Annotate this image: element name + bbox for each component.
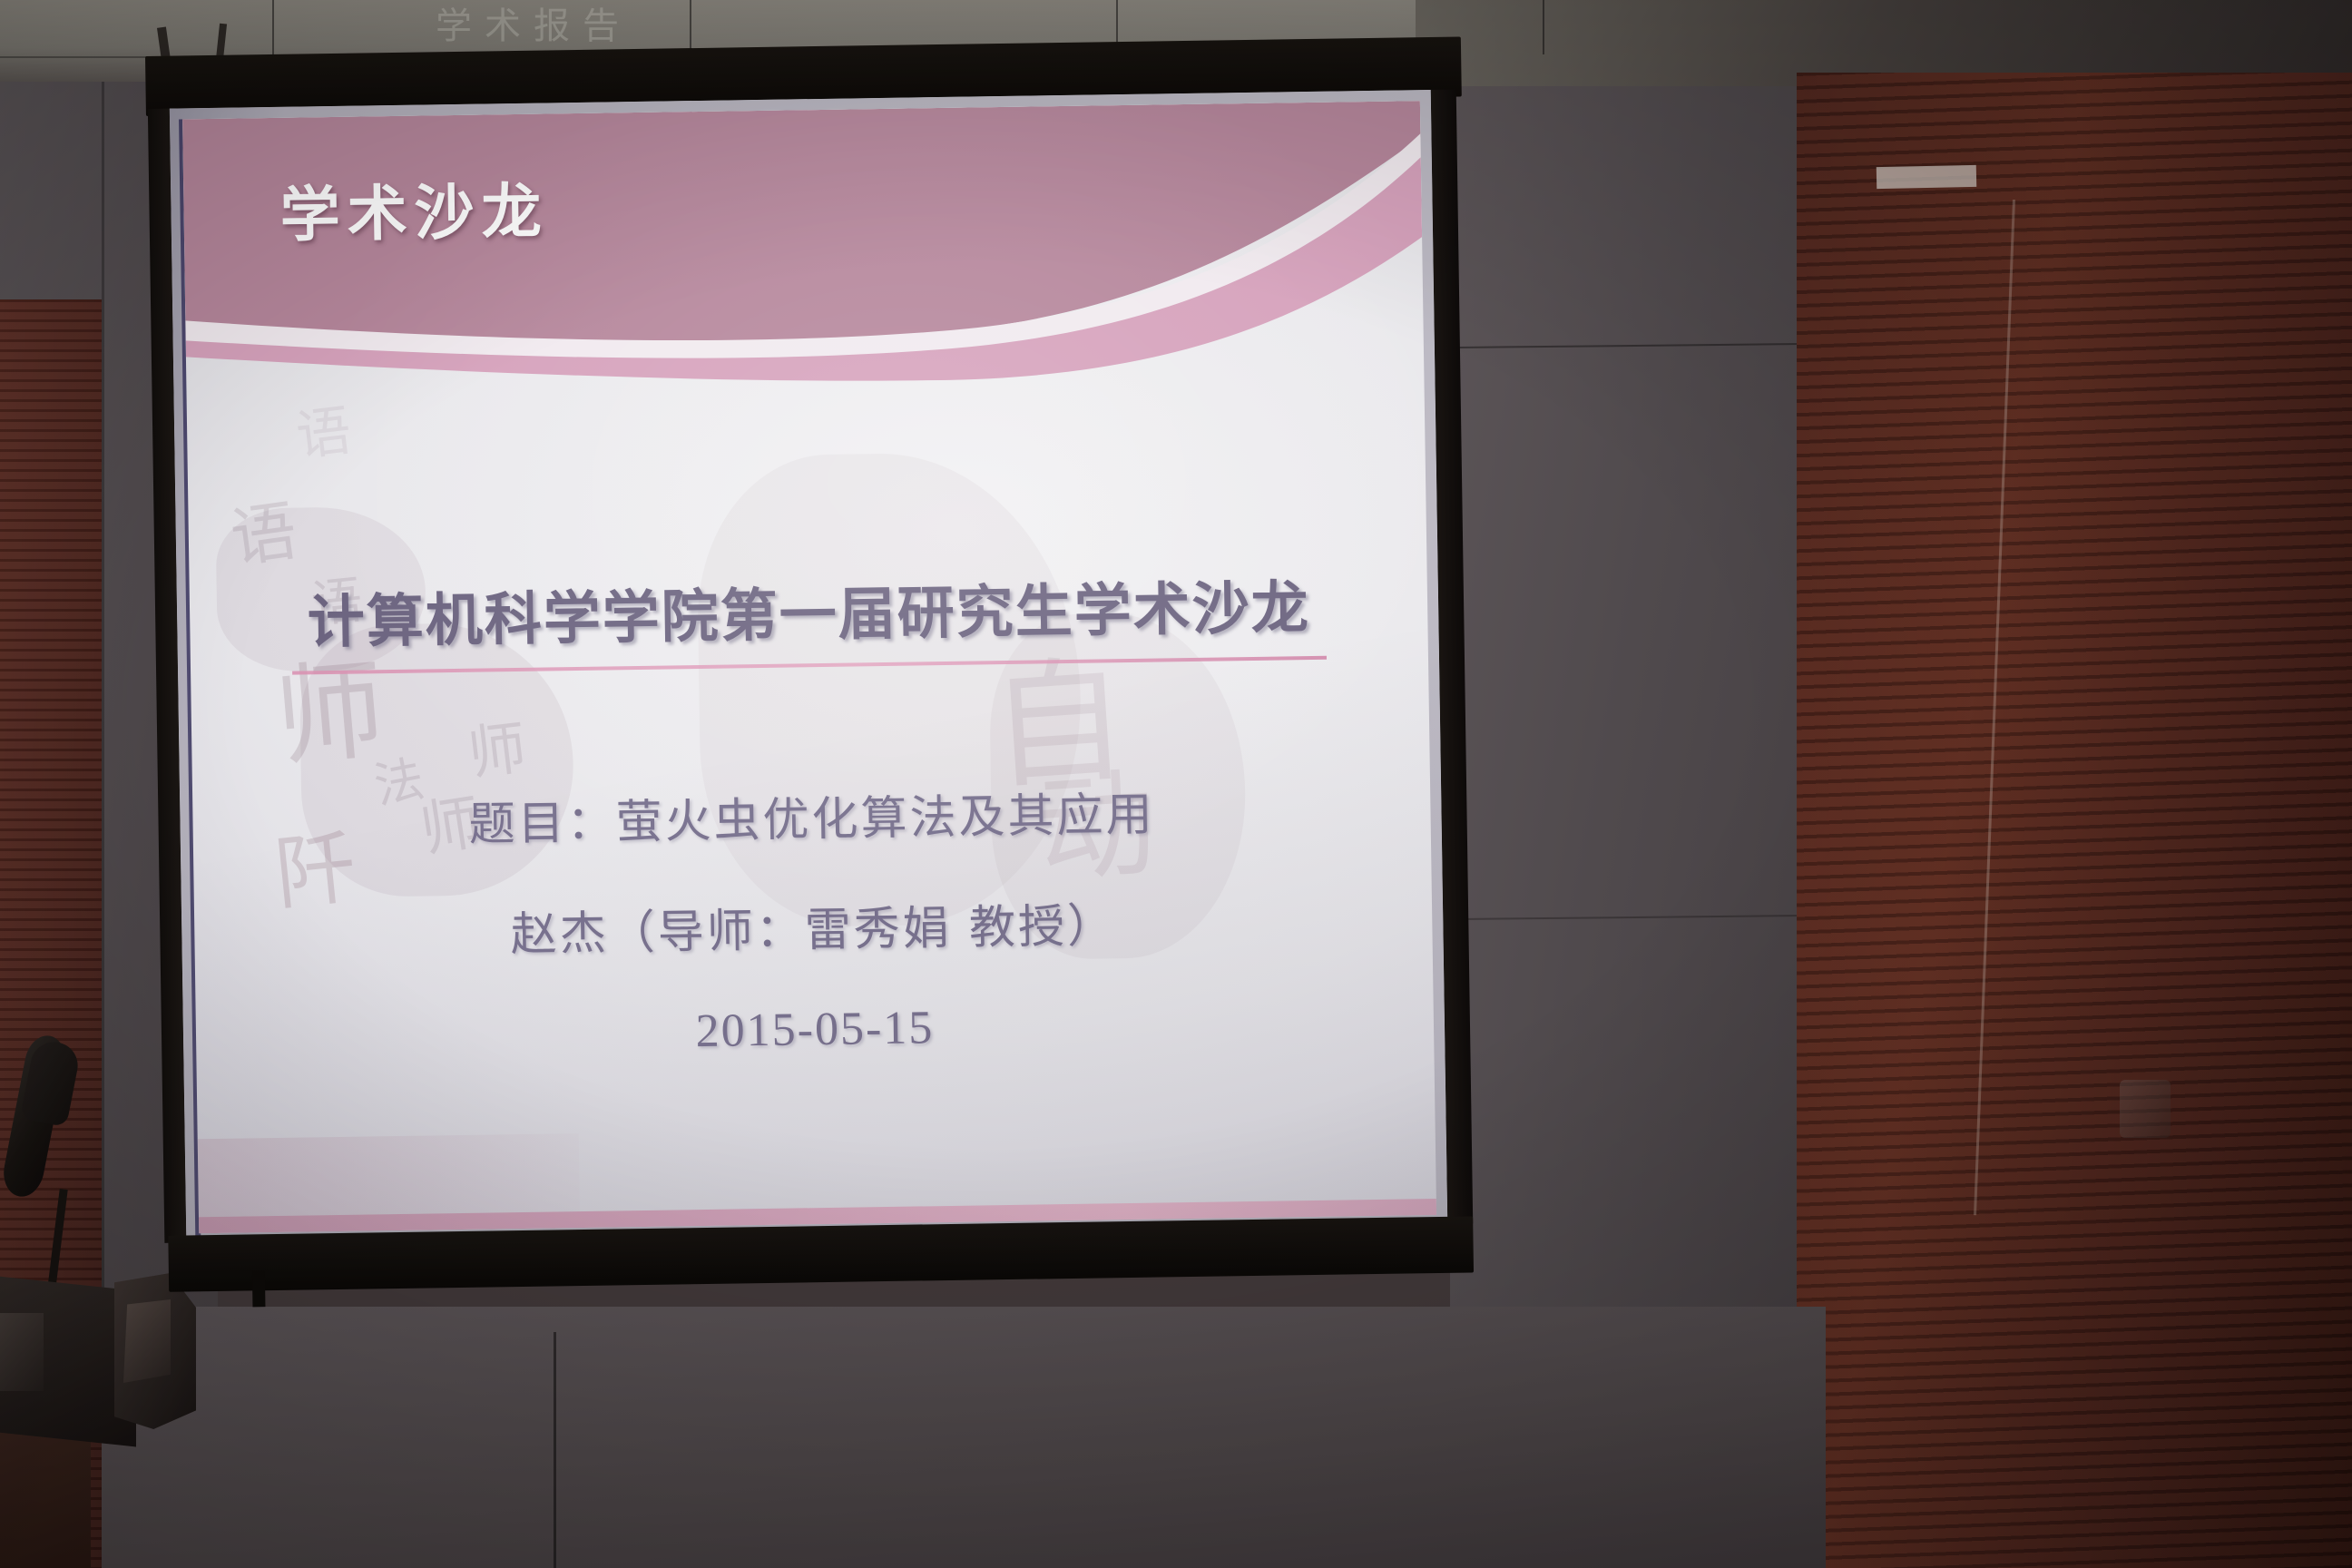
screen-surface: 语 语 师 师 师 阡 法 自 动 语 bbox=[170, 90, 1447, 1242]
ghost-glyph: 语 bbox=[291, 387, 355, 472]
podium-panel-left bbox=[0, 1313, 44, 1391]
screen-pull-tab bbox=[252, 1270, 266, 1307]
slide-date-line: 2015-05-15 bbox=[196, 994, 1435, 1065]
slide-main-title: 计算机科学学院第一届研究生学术沙龙 bbox=[190, 560, 1428, 661]
wall-seam-bottom bbox=[554, 1332, 556, 1568]
slide-topic-line: 题目：萤火虫优化算法及其应用 bbox=[192, 772, 1431, 857]
banner-title-text: 学术沙龙 bbox=[279, 162, 549, 253]
projection-screen: 语 语 师 师 师 阡 法 自 动 语 bbox=[145, 36, 1479, 1298]
slide-presenter-line: 赵杰（导师：雷秀娟 教授） bbox=[194, 883, 1433, 968]
podium-base bbox=[0, 1430, 91, 1568]
slide-header-banner: 学术沙龙 bbox=[182, 101, 1424, 355]
title-underline-rule bbox=[292, 656, 1327, 675]
wall-fixture bbox=[2120, 1080, 2171, 1138]
slide-body-block: 题目：萤火虫优化算法及其应用 赵杰（导师：雷秀娟 教授） 2015-05-15 bbox=[192, 772, 1435, 1109]
photo-scene: 学术报告 bbox=[0, 0, 2352, 1568]
wall-below-screen bbox=[102, 1307, 1826, 1568]
slide-footer-accent bbox=[198, 1133, 580, 1217]
wall-sign-plate bbox=[1877, 165, 1976, 189]
ceiling-seam bbox=[1543, 0, 1544, 54]
ghost-glyph: 师 bbox=[463, 701, 531, 791]
ceiling-banner-text: 学术报告 bbox=[436, 0, 817, 47]
podium-panel-right bbox=[123, 1299, 171, 1383]
ghost-glyph: 语 bbox=[224, 477, 302, 581]
wood-panel-right bbox=[1797, 73, 2352, 1568]
projected-slide: 语 语 师 师 师 阡 法 自 动 语 bbox=[182, 101, 1436, 1233]
